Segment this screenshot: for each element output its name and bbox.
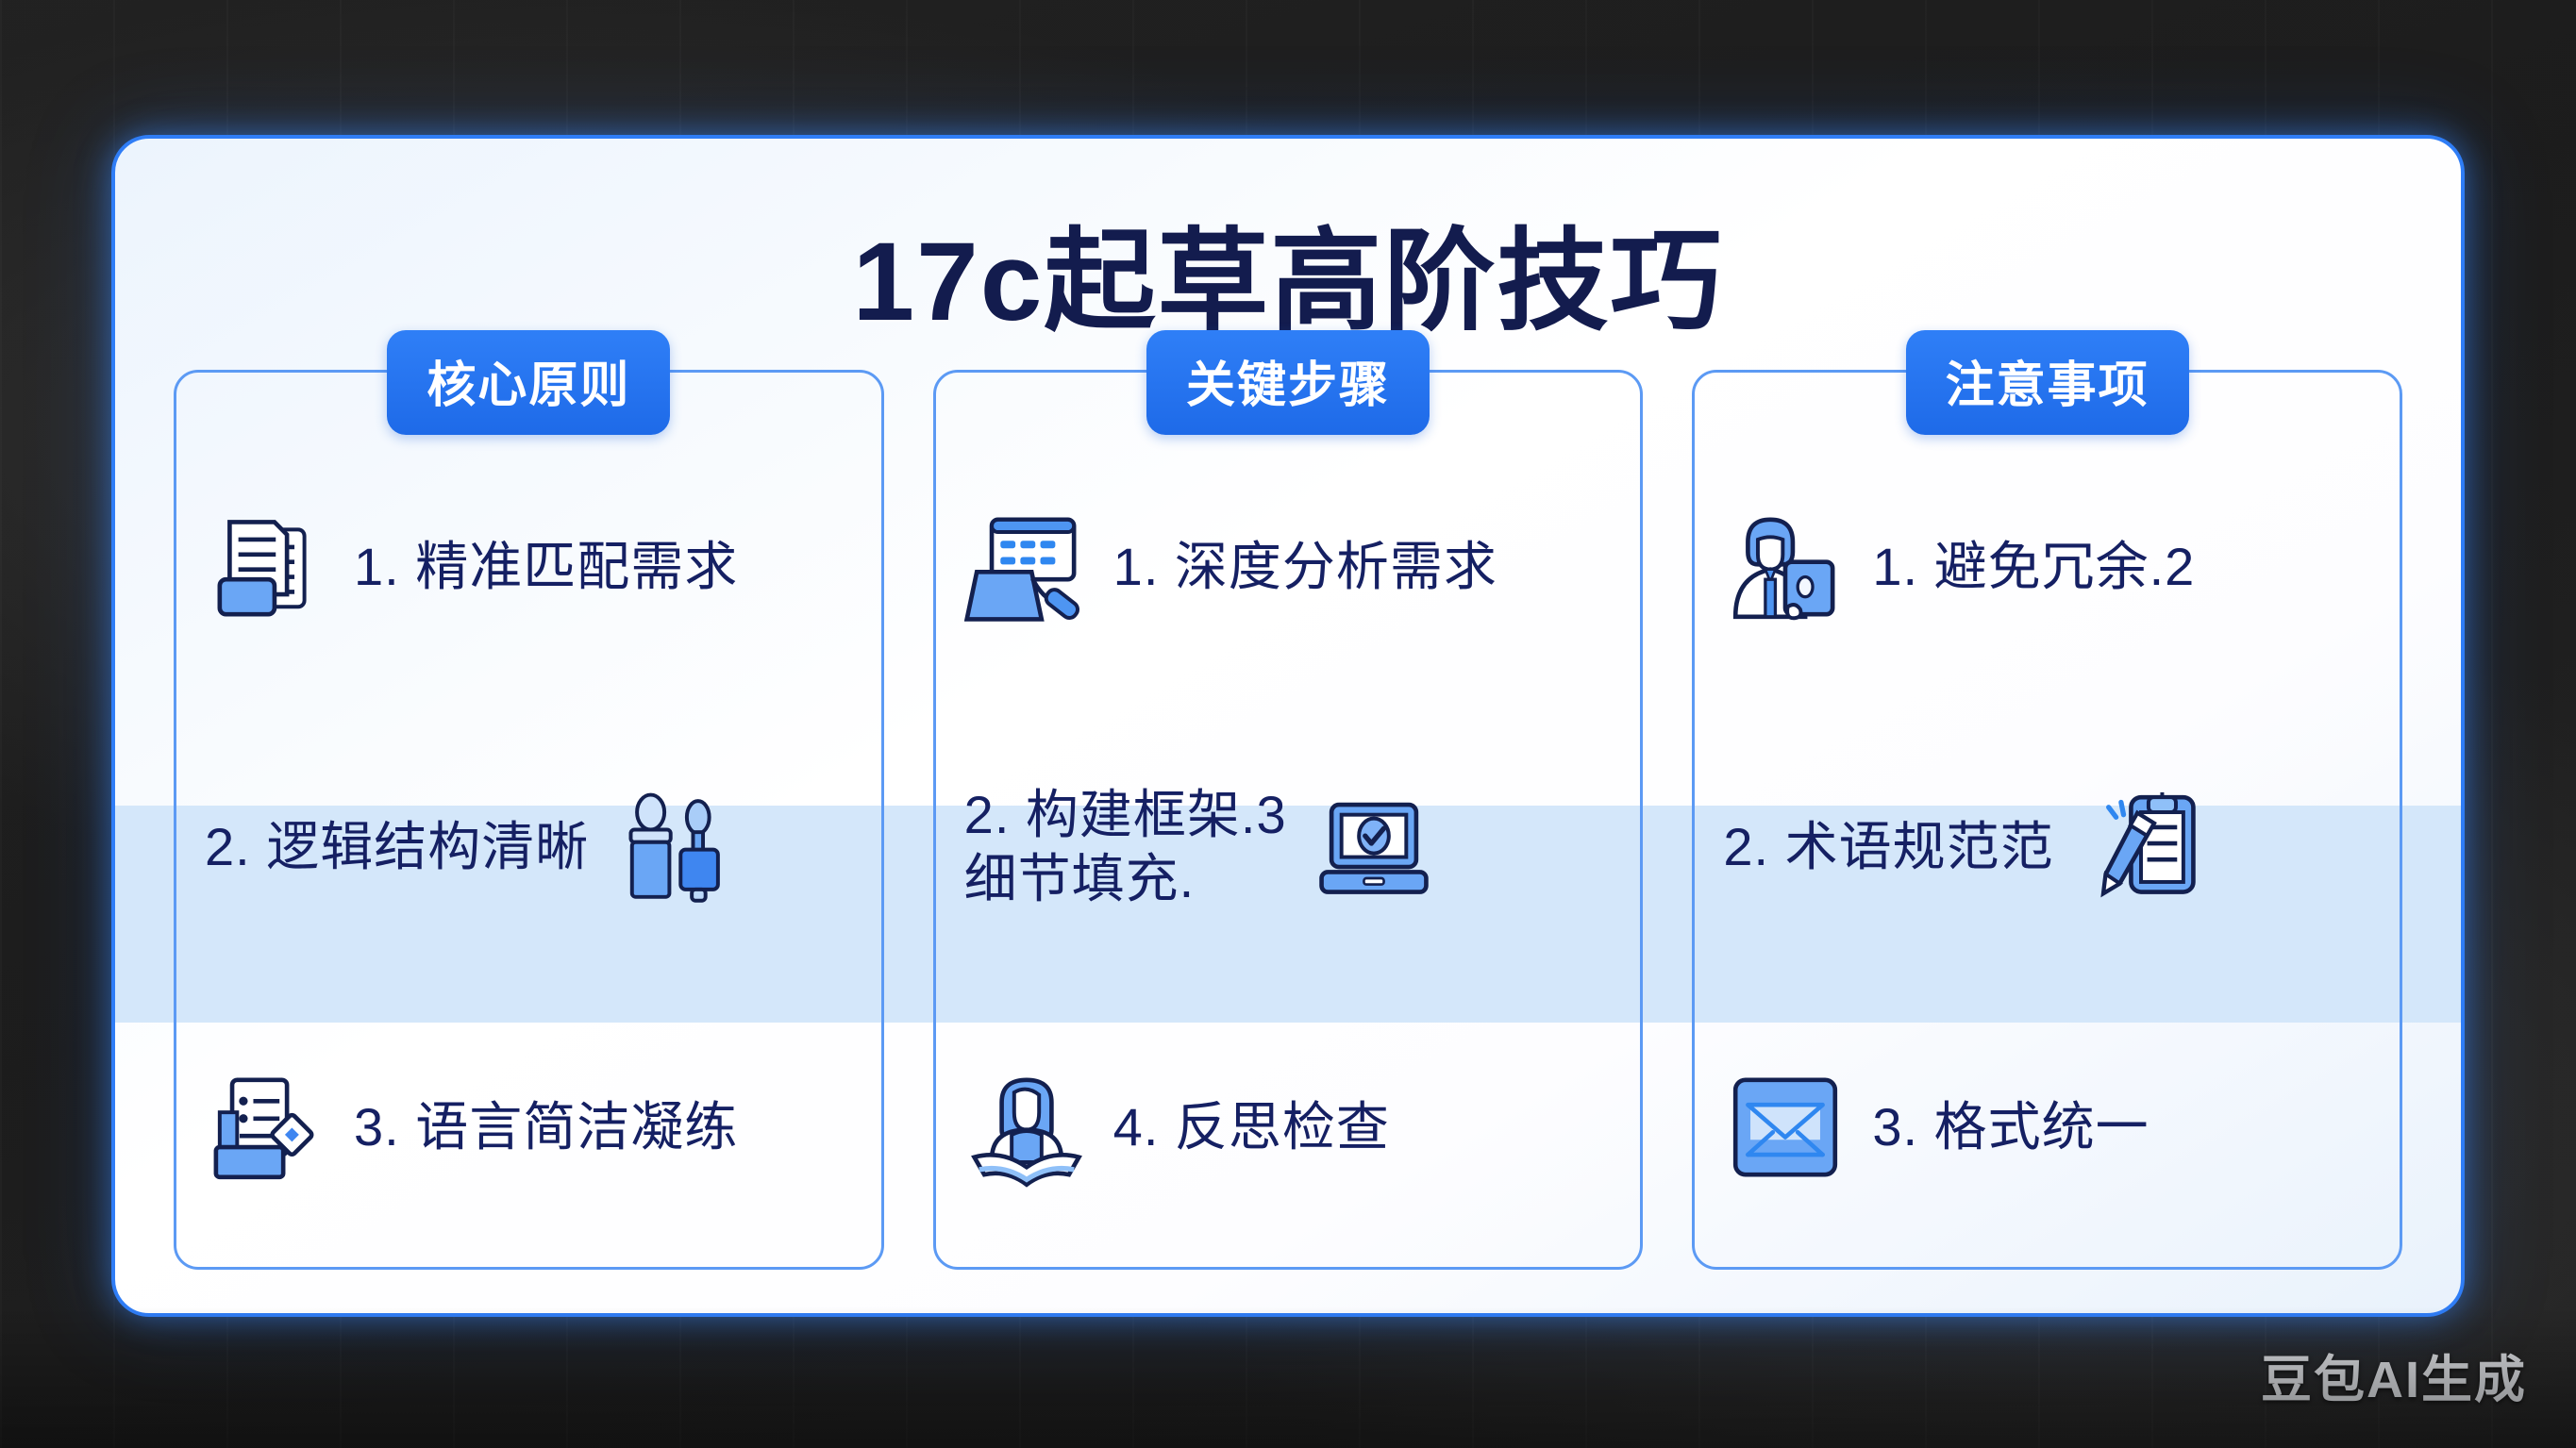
list-item[interactable]: 1. 深度分析需求: [936, 427, 1641, 707]
businessman-tablet-icon: [1723, 505, 1848, 629]
list-item-label: 1. 深度分析需求: [1113, 535, 1497, 599]
slide-backdrop: 17c起草高阶技巧 核心原则: [0, 0, 2576, 1448]
list-item[interactable]: 1. 精准匹配需求: [176, 427, 881, 707]
column-header-key-steps[interactable]: 关键步骤: [1146, 330, 1430, 435]
column-core-principles: 核心原则: [174, 370, 884, 1270]
row-list-precautions: 1. 避免冗余.2: [1695, 427, 2400, 1267]
infographic-card: 17c起草高阶技巧 核心原则: [111, 135, 2465, 1317]
list-item-label: 3. 语言简洁凝练: [354, 1095, 738, 1159]
list-item-label: 1. 避免冗余.2: [1872, 535, 2195, 599]
list-item-label: 3. 格式统一: [1872, 1095, 2149, 1159]
list-item[interactable]: 4. 反思检查: [936, 987, 1641, 1267]
list-item-label: 2. 逻辑结构清晰: [205, 815, 589, 879]
presentation-board-icon: [964, 505, 1089, 629]
list-item[interactable]: 2. 术语规范范: [1695, 707, 2400, 988]
list-item[interactable]: 2. 构建框架.3 细节填充.: [936, 707, 1641, 988]
clipboard-pencil-icon: [2079, 785, 2203, 909]
list-item[interactable]: 3. 语言简洁凝练: [176, 987, 881, 1267]
column-precautions: 注意事项: [1692, 370, 2402, 1270]
page-title: 17c起草高阶技巧: [115, 191, 2461, 352]
list-item-label: 2. 术语规范范: [1723, 815, 2053, 879]
list-item[interactable]: 2. 逻辑结构清晰: [176, 707, 881, 988]
list-item[interactable]: 3. 格式统一: [1695, 987, 2400, 1267]
documents-icon: [205, 505, 329, 629]
podium-people-icon: [613, 785, 738, 909]
envelope-icon: [1723, 1065, 1848, 1190]
row-list-key-steps: 1. 深度分析需求: [936, 427, 1641, 1267]
watermark-label: 豆包AI生成: [2261, 1338, 2527, 1412]
column-key-steps: 关键步骤: [933, 370, 1644, 1270]
row-list-core-principles: 1. 精准匹配需求: [176, 427, 881, 1267]
laptop-check-icon: [1312, 785, 1436, 909]
list-item-label: 4. 反思检查: [1113, 1095, 1390, 1159]
person-reading-icon: [964, 1065, 1089, 1190]
column-header-core-principles[interactable]: 核心原则: [387, 330, 670, 435]
column-header-precautions[interactable]: 注意事项: [1906, 330, 2189, 435]
column-container: 核心原则: [174, 370, 2402, 1270]
list-item-label: 1. 精准匹配需求: [354, 535, 738, 599]
list-item-label: 2. 构建框架.3 细节填充.: [964, 783, 1287, 912]
list-item[interactable]: 1. 避免冗余.2: [1695, 427, 2400, 707]
document-tag-icon: [205, 1065, 329, 1190]
